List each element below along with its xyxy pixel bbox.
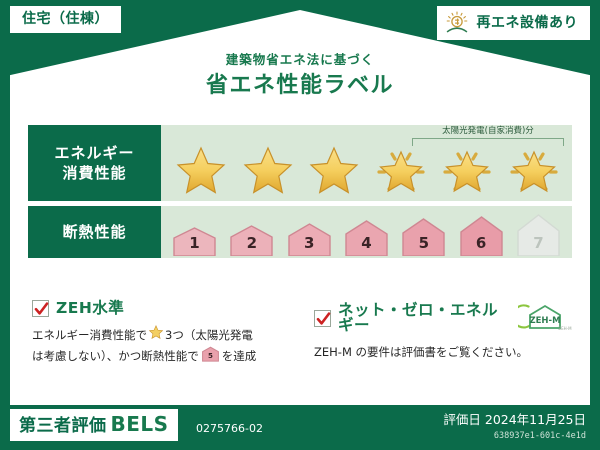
solar-annotation-text: 太陽光発電(自家消費)分 [412, 127, 564, 136]
nze-body-text: ZEH-M の要件は評価書をご覧ください。 [314, 343, 528, 362]
insulation-label-text: 断熱性能 [62, 222, 126, 242]
label-heading: 建築物省エネ法に基づく 省エネ性能ラベル [10, 54, 590, 97]
footer-bar: 第三者評価 BELS 0275766-02 評価日 2024年11月25日 63… [0, 405, 600, 450]
star-2 [240, 142, 296, 198]
energy-label-line1: エネルギー [54, 143, 134, 163]
star-4-solar [373, 142, 429, 198]
insulation-performance-label: 断熱性能 [28, 206, 161, 258]
insulation-level-scale: 1 2 3 4 [171, 206, 562, 258]
insulation-level-7: 7 [515, 213, 562, 256]
zeh-checkbox[interactable] [32, 300, 49, 317]
insulation-performance-row: 断熱性能 1 2 3 [28, 206, 572, 258]
insulation-level-5: 5 [400, 217, 447, 256]
insulation-level-3-number: 3 [286, 236, 333, 251]
insulation-level-4: 4 [343, 219, 390, 256]
insulation-level-6: 6 [458, 215, 505, 256]
renewable-badge-label: 再エネ設備あり [477, 16, 579, 30]
svg-text:5: 5 [208, 351, 213, 360]
svg-text:ZEH-M: ZEH-M [529, 316, 560, 326]
zeh-criterion-body: エネルギー消費性能で 3つ（太陽光発電 は考慮しない）、かつ断熱性能で 5 を達… [32, 324, 302, 368]
bels-logo-text: BELS [111, 414, 169, 434]
nze-criterion: ネット・ゼロ・エネルギー ZEH-M ZEH-M ZEH-M の要件は評価書をご… [302, 300, 572, 368]
energy-performance-label: 住宅（住棟） 再エネ設備あり 建築物省 [0, 0, 600, 450]
star-3 [306, 142, 362, 198]
performance-rows: エネルギー 消費性能 太陽光発電(自家消費)分 [28, 125, 572, 258]
nze-criterion-body: ZEH-M の要件は評価書をご覧ください。 [314, 343, 572, 362]
energy-performance-label: エネルギー 消費性能 [28, 125, 161, 201]
sun-icon [444, 10, 470, 36]
nze-criterion-header: ネット・ゼロ・エネルギー ZEH-M ZEH-M [314, 300, 572, 336]
energy-label-line2: 消費性能 [62, 163, 126, 183]
heading-subtitle: 建築物省エネ法に基づく [10, 54, 590, 67]
zeh-body-line-2: は考慮しない）、かつ断熱性能で 5 を達成 [32, 346, 302, 368]
insulation-level-1: 1 [171, 226, 218, 256]
star-rating [173, 142, 562, 198]
star-5-solar [439, 142, 495, 198]
insulation-level-5-number: 5 [400, 236, 447, 251]
third-party-evaluation-label: 第三者評価 [19, 418, 107, 435]
svg-text:ZEH-M: ZEH-M [558, 326, 572, 331]
insulation-level-4-number: 4 [343, 236, 390, 251]
document-hash: 638937e1-601c-4e1d [494, 432, 586, 441]
nze-checkbox[interactable] [314, 310, 331, 327]
zeh-criterion: ZEH水準 エネルギー消費性能で 3つ（太陽光発電 は考慮しない）、かつ断熱性能… [32, 300, 302, 368]
criteria-section: ZEH水準 エネルギー消費性能で 3つ（太陽光発電 は考慮しない）、かつ断熱性能… [32, 300, 572, 368]
insulation-level-2: 2 [228, 224, 275, 256]
zeh-criterion-title: ZEH水準 [56, 301, 124, 317]
energy-performance-value: 太陽光発電(自家消費)分 [161, 125, 572, 201]
zeh-body-post-star: 3つ（太陽光発電 [165, 326, 253, 345]
star-1 [173, 142, 229, 198]
nze-criterion-title: ネット・ゼロ・エネルギー [338, 303, 509, 334]
nze-body-line-1: ZEH-M の要件は評価書をご覧ください。 [314, 343, 572, 362]
zeh-m-logo-icon: ZEH-M ZEH-M [518, 300, 572, 336]
insulation-performance-value: 1 2 3 4 [161, 206, 572, 258]
inline-star-icon [148, 324, 164, 346]
zeh-body-line2-post: を達成 [222, 347, 257, 366]
zeh-body-line-1: エネルギー消費性能で 3つ（太陽光発電 [32, 324, 302, 346]
insulation-level-1-number: 1 [171, 236, 218, 251]
bels-plate: 第三者評価 BELS [10, 409, 178, 441]
insulation-level-2-number: 2 [228, 236, 275, 251]
certificate-number: 0275766-02 [196, 423, 263, 434]
inline-insulation-house-icon: 5 [201, 346, 220, 368]
heading-title: 省エネ性能ラベル [10, 75, 590, 97]
insulation-level-6-number: 6 [458, 236, 505, 251]
insulation-level-7-number: 7 [515, 236, 562, 251]
zeh-body-pre-star: エネルギー消費性能で [32, 326, 147, 345]
building-type-tag: 住宅（住棟） [10, 6, 121, 33]
renewable-equipment-badge: 再エネ設備あり [437, 6, 591, 40]
star-6-solar [506, 142, 562, 198]
evaluation-date: 評価日 2024年11月25日 [443, 414, 586, 427]
zeh-body-line2-pre: は考慮しない）、かつ断熱性能で [32, 347, 199, 366]
energy-performance-row: エネルギー 消費性能 太陽光発電(自家消費)分 [28, 125, 572, 201]
zeh-criterion-header: ZEH水準 [32, 300, 302, 317]
insulation-level-3: 3 [286, 222, 333, 256]
